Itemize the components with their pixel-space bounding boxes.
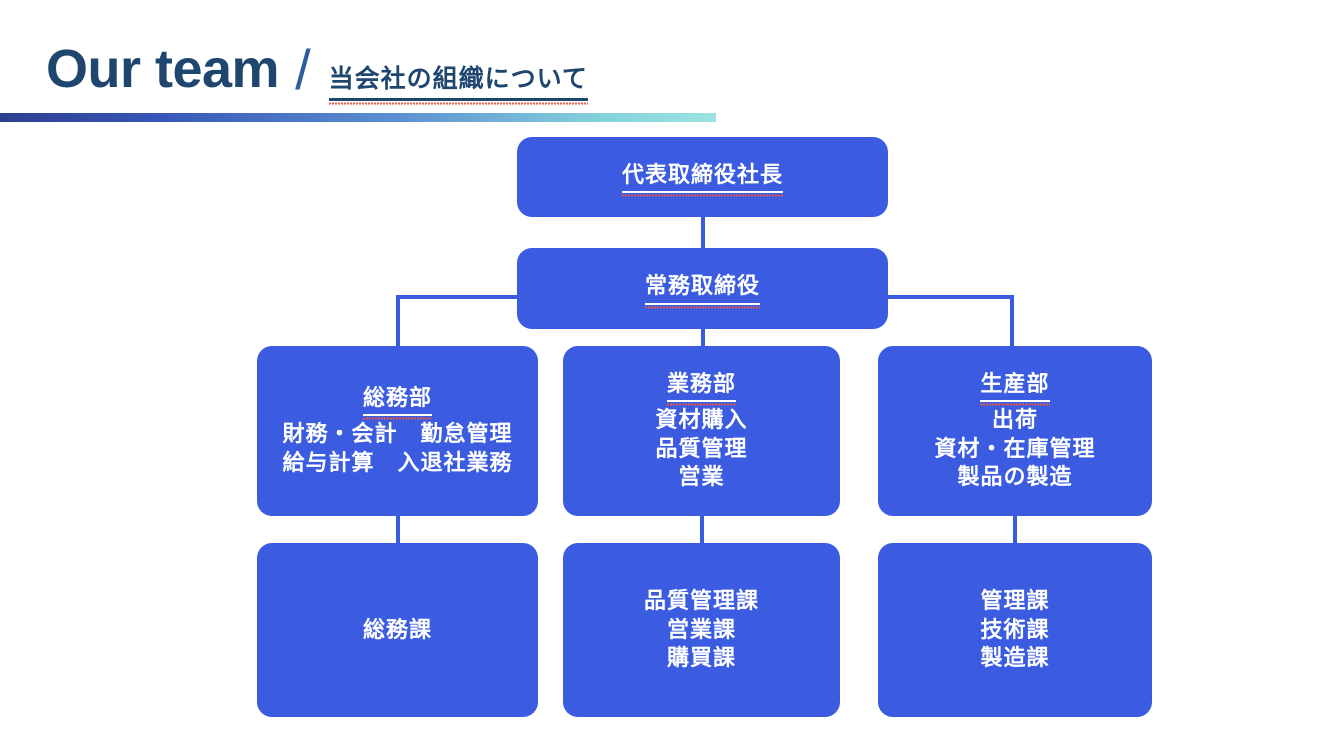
- org-item: 管理課: [980, 587, 1049, 616]
- org-item: 技術課: [980, 616, 1049, 645]
- connector-production-to-section: [1013, 514, 1017, 546]
- org-node-business-dept[interactable]: 業務部 資材購入 品質管理 営業: [563, 346, 840, 516]
- org-item: 営業: [655, 463, 747, 492]
- org-node-production-sections[interactable]: 管理課 技術課 製造課: [878, 543, 1152, 717]
- connector-general-affairs-to-section: [396, 514, 400, 546]
- spellcheck-underline-icon: [980, 402, 1049, 406]
- org-node-general-affairs-dept[interactable]: 総務部 財務・会計 勤怠管理 給与計算 入退社業務: [257, 346, 538, 516]
- spellcheck-underline-icon: [622, 193, 783, 197]
- spellcheck-underline-icon: [645, 305, 760, 309]
- org-node-production-dept[interactable]: 生産部 出荷 資材・在庫管理 製品の製造: [878, 346, 1152, 516]
- org-chart: 代表取締役社長 常務取締役 総務部 財務・会計 勤怠管理 給与計算 入退社業務: [0, 0, 1317, 739]
- org-item: 製品の製造: [934, 463, 1095, 492]
- org-item: 財務・会計 勤怠管理: [282, 420, 512, 449]
- org-node-general-affairs-dept-title: 総務部: [363, 384, 432, 416]
- org-node-general-affairs-section[interactable]: 総務課: [257, 543, 538, 717]
- org-item: 出荷: [934, 406, 1095, 435]
- org-node-managing-director-title: 常務取締役: [645, 272, 760, 304]
- slide-canvas: Our team / 当会社の組織について 代表取締役社長: [0, 0, 1317, 739]
- connector-drop-production: [1010, 295, 1014, 349]
- org-node-production-sections-items: 管理課 技術課 製造課: [980, 587, 1049, 673]
- org-node-business-sections[interactable]: 品質管理課 営業課 購買課: [563, 543, 840, 717]
- org-item: 総務課: [363, 616, 432, 645]
- org-item: 給与計算 入退社業務: [282, 449, 512, 478]
- org-item: 製造課: [980, 644, 1049, 673]
- spellcheck-underline-icon: [363, 416, 432, 420]
- org-node-general-affairs-dept-items: 財務・会計 勤怠管理 給与計算 入退社業務: [282, 420, 512, 477]
- org-node-production-dept-title: 生産部: [980, 370, 1049, 402]
- org-node-ceo[interactable]: 代表取締役社長: [517, 137, 888, 217]
- org-node-business-sections-items: 品質管理課 営業課 購買課: [644, 587, 759, 673]
- org-node-general-affairs-section-items: 総務課: [363, 616, 432, 645]
- org-item: 品質管理: [655, 435, 747, 464]
- org-node-business-dept-title: 業務部: [667, 370, 736, 402]
- org-item: 資材購入: [655, 406, 747, 435]
- spellcheck-underline-icon: [667, 402, 736, 406]
- org-item: 営業課: [644, 616, 759, 645]
- connector-drop-general-affairs: [396, 295, 400, 349]
- org-node-ceo-title: 代表取締役社長: [622, 161, 783, 193]
- connector-business-to-section: [700, 514, 704, 546]
- connector-ceo-to-director: [701, 215, 705, 251]
- org-node-business-dept-items: 資材購入 品質管理 営業: [655, 406, 747, 492]
- org-item: 資材・在庫管理: [934, 435, 1095, 464]
- org-node-production-dept-items: 出荷 資材・在庫管理 製品の製造: [934, 406, 1095, 492]
- org-item: 品質管理課: [644, 587, 759, 616]
- org-item: 購買課: [644, 644, 759, 673]
- org-node-managing-director[interactable]: 常務取締役: [517, 248, 888, 329]
